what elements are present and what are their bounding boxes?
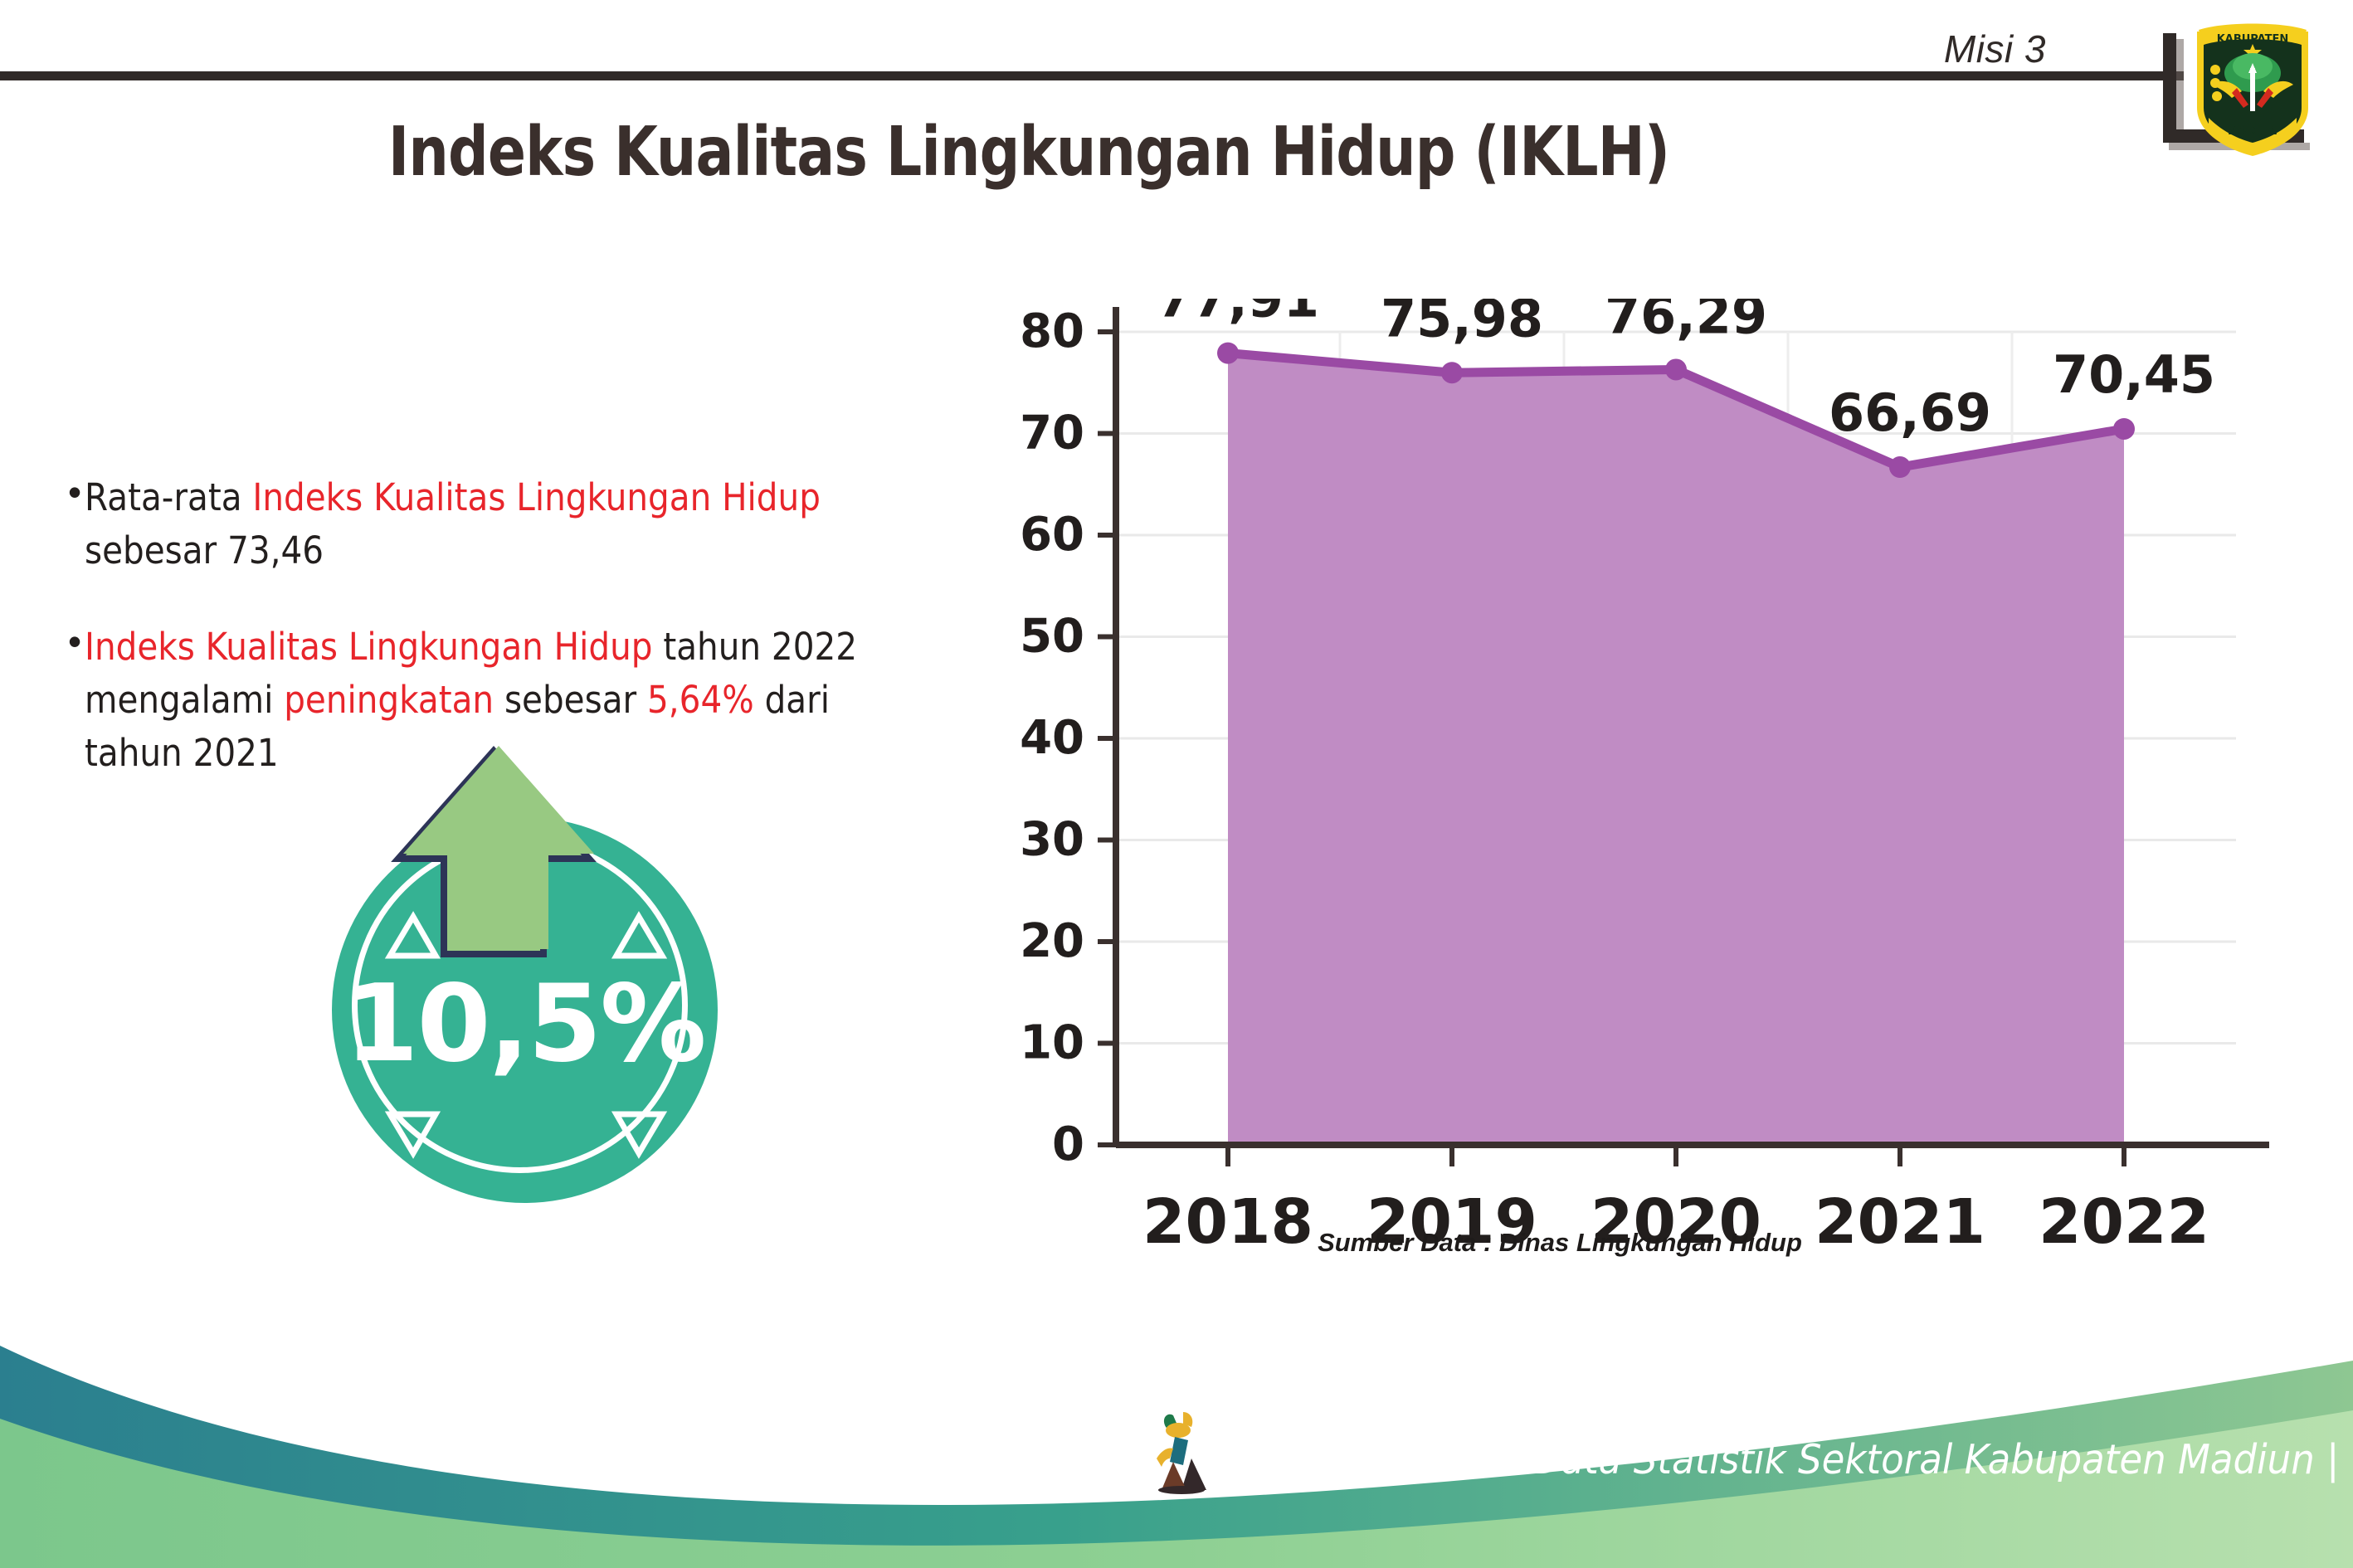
svg-text:0: 0 bbox=[1052, 1118, 1084, 1171]
svg-text:40: 40 bbox=[1020, 711, 1084, 765]
svg-text:80: 80 bbox=[1020, 304, 1084, 358]
svg-text:66,69: 66,69 bbox=[1829, 382, 1991, 443]
header-rule bbox=[0, 71, 2184, 80]
bracket-shadow-vertical bbox=[2176, 39, 2184, 143]
bullet-marker: • bbox=[68, 471, 81, 513]
svg-text:76,29: 76,29 bbox=[1605, 299, 1767, 345]
media-infografis-logo-icon bbox=[1145, 1404, 1220, 1503]
svg-text:77,91: 77,91 bbox=[1157, 299, 1319, 329]
y-axis: 01020304050607080 bbox=[1020, 304, 1116, 1171]
bullet-text-1: Rata-rata Indeks Kualitas Lingkungan Hid… bbox=[85, 471, 906, 577]
svg-text:50: 50 bbox=[1020, 610, 1084, 664]
svg-text:70: 70 bbox=[1020, 407, 1084, 460]
bracket-vertical bbox=[2163, 33, 2176, 143]
footer-caption: Media Infografis Data Statistik Sektoral… bbox=[1220, 1436, 2339, 1483]
kabupaten-madiun-emblem-icon: KABUPATEN MADIUN bbox=[2190, 18, 2315, 158]
increase-badge: 10,5% bbox=[307, 730, 772, 1211]
svg-text:MADIUN: MADIUN bbox=[2228, 125, 2277, 138]
svg-text:KABUPATEN: KABUPATEN bbox=[2217, 33, 2289, 46]
list-item: • Rata-rata Indeks Kualitas Lingkungan H… bbox=[68, 471, 997, 577]
svg-text:70,45: 70,45 bbox=[2053, 344, 2215, 405]
chart-area-fill bbox=[1228, 353, 2124, 1145]
iklh-area-chart: 01020304050607080 20182019202020212022 7… bbox=[983, 299, 2277, 1278]
svg-text:20: 20 bbox=[1020, 914, 1084, 968]
bullet-marker: • bbox=[68, 621, 81, 662]
svg-text:60: 60 bbox=[1020, 508, 1084, 562]
svg-text:30: 30 bbox=[1020, 813, 1084, 867]
svg-text:75,98: 75,98 bbox=[1381, 299, 1543, 348]
mission-label: Misi 3 bbox=[1944, 27, 2046, 71]
source-note: Sumber Data : Dinas Lingkungan Hidup bbox=[979, 1228, 2141, 1258]
badge-value: 10,5% bbox=[332, 962, 718, 1086]
svg-text:10: 10 bbox=[1020, 1016, 1084, 1070]
page-title: Indeks Kualitas Lingkungan Hidup (IKLH) bbox=[175, 113, 1883, 192]
